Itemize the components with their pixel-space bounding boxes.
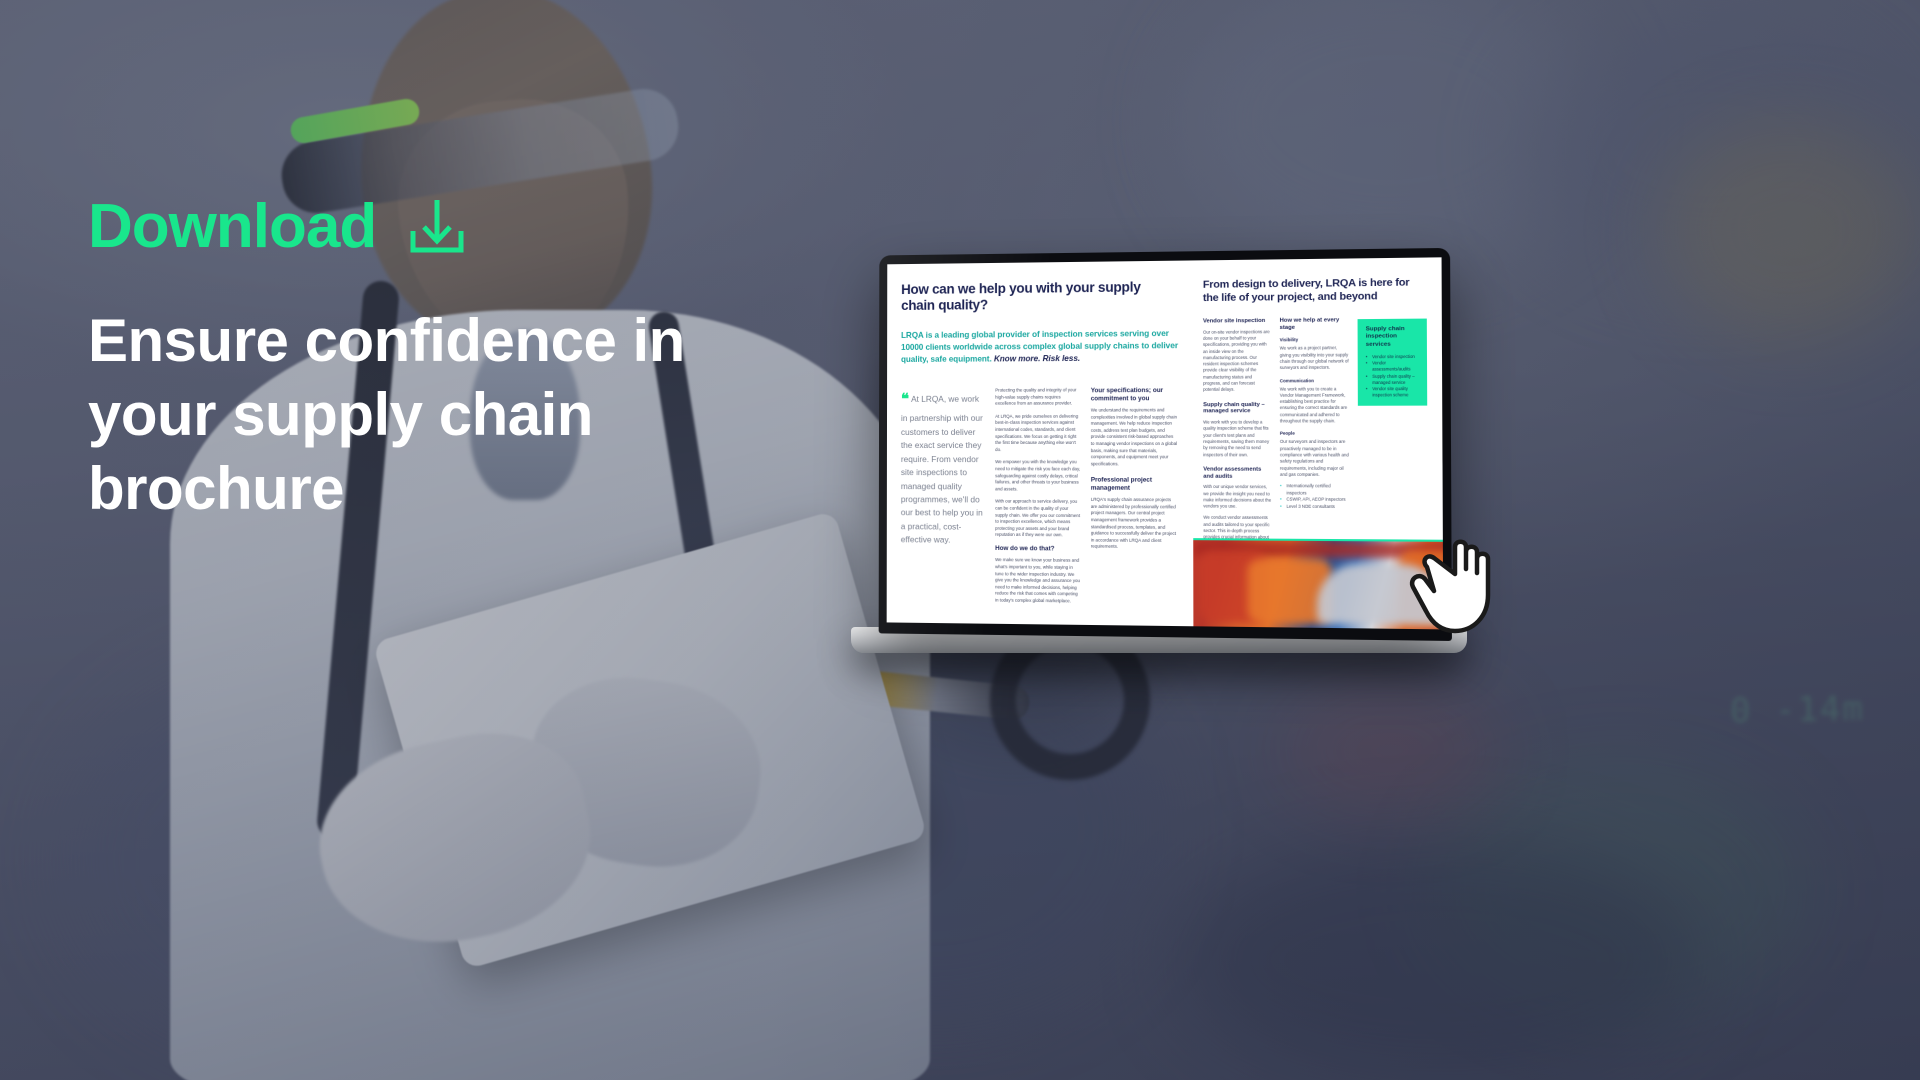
body-paragraph: At LRQA, we pride ourselves on deliverin… xyxy=(995,413,1081,453)
body-paragraph: With our approach to service delivery, y… xyxy=(995,499,1081,540)
left-page-lede: LRQA is a leading global provider of ins… xyxy=(901,327,1178,366)
body-paragraph: We empower you with the knowledge you ne… xyxy=(995,460,1081,494)
robotic-assembly-line-photo xyxy=(1193,538,1443,629)
list-item: Level 3 NDE consultants xyxy=(1280,503,1349,510)
left-page-quote-column: ❝At LRQA, we work in partnership with ou… xyxy=(901,388,986,610)
left-page-middle-column: Protecting the quality and integrity of … xyxy=(995,387,1082,611)
laptop-lid: How can we help you with your supply cha… xyxy=(879,248,1452,641)
list-item: Vendor assessments/audits xyxy=(1366,360,1419,373)
how-do-we-do-that-heading: How do we do that? xyxy=(995,545,1081,553)
body-paragraph: We work as a project partner, giving you… xyxy=(1280,345,1349,371)
left-page-heading: How can we help you with your supply cha… xyxy=(901,279,1178,315)
download-arrow-icon[interactable] xyxy=(406,198,468,256)
customer-quote: ❝At LRQA, we work in partnership with ou… xyxy=(901,388,986,548)
left-page-columns: ❝At LRQA, we work in partnership with ou… xyxy=(901,387,1179,612)
body-paragraph: Protecting the quality and integrity of … xyxy=(995,387,1081,407)
credentials-list: Internationally certified inspectors CSW… xyxy=(1280,483,1349,510)
list-item: Internationally certified inspectors xyxy=(1280,483,1349,497)
page-title: Ensure confidence in your supply chain b… xyxy=(88,304,698,525)
your-specifications-heading: Your specifications; our commitment to y… xyxy=(1091,387,1178,402)
body-paragraph: LRQA's supply chain assurance projects a… xyxy=(1091,497,1179,551)
people-label: People xyxy=(1280,431,1349,436)
project-management-heading: Professional project management xyxy=(1091,477,1179,492)
right-page-left-column: Vendor site inspection Our on-site vendo… xyxy=(1203,318,1272,566)
brochure-left-page: How can we help you with your supply cha… xyxy=(887,260,1193,626)
body-paragraph: Our surveyors and inspectors are proacti… xyxy=(1280,439,1349,478)
supply-chain-quality-heading: Supply chain quality – managed service xyxy=(1203,402,1271,416)
quote-mark-icon: ❝ xyxy=(901,391,908,408)
right-page-sidebar-column: Supply chain inspection services Vendor … xyxy=(1357,316,1428,567)
visibility-label: Visibility xyxy=(1280,337,1349,343)
brochure-spread: How can we help you with your supply cha… xyxy=(887,257,1444,629)
body-paragraph: With our unique vendor services, we prov… xyxy=(1203,484,1271,510)
supply-chain-services-box: Supply chain inspection services Vendor … xyxy=(1357,319,1427,406)
laptop-mockup[interactable]: How can we help you with your supply cha… xyxy=(879,255,1499,655)
services-list: Vendor site inspection Vendor assessment… xyxy=(1366,354,1419,399)
list-item: Vendor site quality inspection scheme xyxy=(1366,386,1419,399)
body-paragraph: We make sure we know your business and w… xyxy=(995,557,1081,605)
left-page-right-column: Your specifications; our commitment to y… xyxy=(1091,387,1179,612)
right-page-middle-column: How we help at every stage Visibility We… xyxy=(1280,317,1350,566)
download-eyebrow-label: Download xyxy=(88,196,376,258)
quote-text: At LRQA, we work in partnership with our… xyxy=(901,394,983,545)
download-label-row[interactable]: Download xyxy=(88,196,808,258)
brochure-right-page: From design to delivery, LRQA is here fo… xyxy=(1192,257,1443,629)
hero-copy-block: Download Ensure confidence in your suppl… xyxy=(88,196,808,525)
body-paragraph: We work with you to develop a quality in… xyxy=(1203,419,1271,458)
communication-label: Communication xyxy=(1280,378,1349,383)
how-we-help-heading: How we help at every stage xyxy=(1280,317,1349,331)
list-item: Supply chain quality – managed service xyxy=(1366,373,1419,386)
right-page-columns: Vendor site inspection Our on-site vendo… xyxy=(1203,316,1428,567)
laptop-screen[interactable]: How can we help you with your supply cha… xyxy=(887,257,1444,629)
right-page-heading: From design to delivery, LRQA is here fo… xyxy=(1203,276,1427,305)
lede-dark-text: Know more. Risk less. xyxy=(994,354,1080,364)
body-paragraph: We understand the requirements and compl… xyxy=(1091,407,1179,468)
body-paragraph: Our on-site vendor inspections are done … xyxy=(1203,329,1271,394)
body-paragraph: We work with you to create a Vendor Mana… xyxy=(1280,386,1349,425)
vendor-assessments-heading: Vendor assessments and audits xyxy=(1203,466,1271,480)
pointing-hand-cursor[interactable] xyxy=(1407,533,1499,637)
services-box-heading: Supply chain inspection services xyxy=(1366,326,1419,349)
vendor-site-inspection-heading: Vendor site inspection xyxy=(1203,318,1271,325)
